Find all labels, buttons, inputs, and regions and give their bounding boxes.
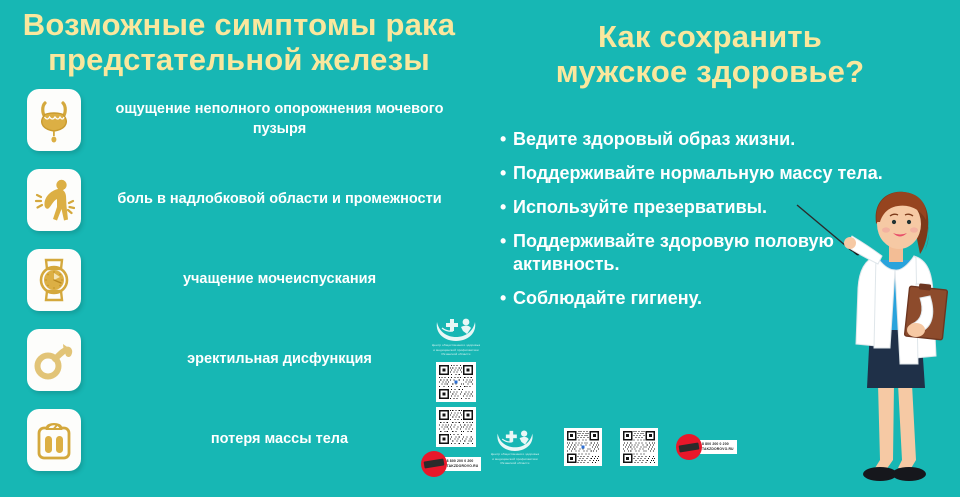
- symptom-row-5: потеря массы тела: [0, 408, 480, 472]
- logo-caption: Центр общественного здоровья и медицинск…: [425, 343, 487, 357]
- bullet-icon: •: [500, 196, 513, 219]
- infographic-canvas: Возможные симптомы рака предстательной ж…: [0, 0, 960, 497]
- bullet-icon: •: [500, 230, 513, 276]
- takzdorovo-logo-icon: [421, 451, 447, 477]
- hotline-badge[interactable]: 8 800 200 0 200 TAKZDOROVO.RU: [421, 451, 482, 477]
- shoe-left: [863, 467, 897, 481]
- bladder-icon: [34, 97, 74, 143]
- bullet-icon: •: [500, 287, 513, 310]
- logo-caption: Центр общественного здоровья и медицинск…: [484, 452, 546, 466]
- logo-block: Центр общественного здоровья и медицинск…: [484, 428, 546, 466]
- takzdorovo-logo-icon: [676, 434, 702, 460]
- hotline-badge[interactable]: 8 800 200 0 200 TAKZDOROVO.RU: [676, 434, 737, 460]
- right-panel-title-line-2: мужское здоровье?: [490, 55, 930, 90]
- advice-label-1: Ведите здоровый образ жизни.: [513, 128, 900, 151]
- hotline-website: TAKZDOROVO.RU: [447, 464, 479, 469]
- male-symbol-icon: [33, 338, 75, 382]
- hotline-website: TAKZDOROVO.RU: [702, 447, 734, 452]
- right-panel-title-line-1: Как сохранить: [490, 20, 930, 55]
- wristwatch-icon: [33, 257, 75, 303]
- symptom-row-4: эректильная дисфункция: [0, 328, 480, 392]
- health-center-logo-icon: [433, 316, 479, 342]
- hotline-badge-text: 8 800 200 0 200 TAKZDOROVO.RU: [444, 457, 482, 472]
- symptom-icon-tile-2: [27, 169, 81, 231]
- advice-item-2: • Поддерживайте нормальную массу тела.: [500, 162, 900, 185]
- left-panel-title-line-1: Возможные симптомы рака: [4, 8, 474, 43]
- right-panel-title: Как сохранить мужское здоровье?: [490, 20, 930, 89]
- symptom-icon-tile-1: [27, 89, 81, 151]
- symptom-label-2: боль в надлобковой области и промежности: [81, 190, 480, 210]
- branding-cluster-middle: Центр общественного здоровья и медицинск…: [418, 316, 494, 477]
- bullet-icon: •: [500, 128, 513, 151]
- symptom-row-2: боль в надлобковой области и промежности: [0, 168, 480, 232]
- logo-caption-line-3: Рязанской области: [484, 461, 546, 466]
- pointer-stick-icon: [797, 205, 852, 251]
- eye-right: [907, 220, 911, 224]
- symptom-label-1: ощущение неполного опорожнения мочевого …: [81, 100, 480, 139]
- left-panel-title: Возможные симптомы рака предстательной ж…: [4, 8, 474, 77]
- hotline-badge-text: 8 800 200 0 200 TAKZDOROVO.RU: [699, 440, 737, 455]
- hand-left: [844, 237, 856, 249]
- logo-caption-line-1: Центр общественного здоровья: [484, 452, 546, 457]
- advice-label-2: Поддерживайте нормальную массу тела.: [513, 162, 900, 185]
- shoe-right: [892, 467, 926, 481]
- left-panel-title-line-2: предстательной железы: [4, 43, 474, 78]
- back-pain-icon: [33, 177, 75, 223]
- symptom-label-3: учащение мочеиспускания: [81, 270, 480, 290]
- eye-left: [892, 220, 896, 224]
- health-center-logo-icon: [494, 428, 536, 452]
- qr-code-2[interactable]: [436, 407, 476, 447]
- logo-caption-line-1: Центр общественного здоровья: [425, 343, 487, 348]
- symptom-icon-tile-3: [27, 249, 81, 311]
- logo-caption-line-3: Рязанской области: [425, 352, 487, 357]
- hand-right: [907, 323, 925, 337]
- symptom-row-3: учащение мочеиспускания: [0, 248, 480, 312]
- symptom-icon-tile-4: [27, 329, 81, 391]
- symptom-icon-tile-5: [27, 409, 81, 471]
- weight-scale-icon: [33, 417, 75, 463]
- advice-item-1: • Ведите здоровый образ жизни.: [500, 128, 900, 151]
- qr-code-1[interactable]: [564, 428, 602, 466]
- bullet-icon: •: [500, 162, 513, 185]
- qr-code-1[interactable]: [436, 362, 476, 402]
- qr-code-2[interactable]: [620, 428, 658, 466]
- branding-cluster-bottom: Центр общественного здоровья и медицинск…: [484, 428, 737, 466]
- symptom-row-1: ощущение неполного опорожнения мочевого …: [0, 88, 480, 152]
- female-doctor-illustration: [790, 188, 960, 497]
